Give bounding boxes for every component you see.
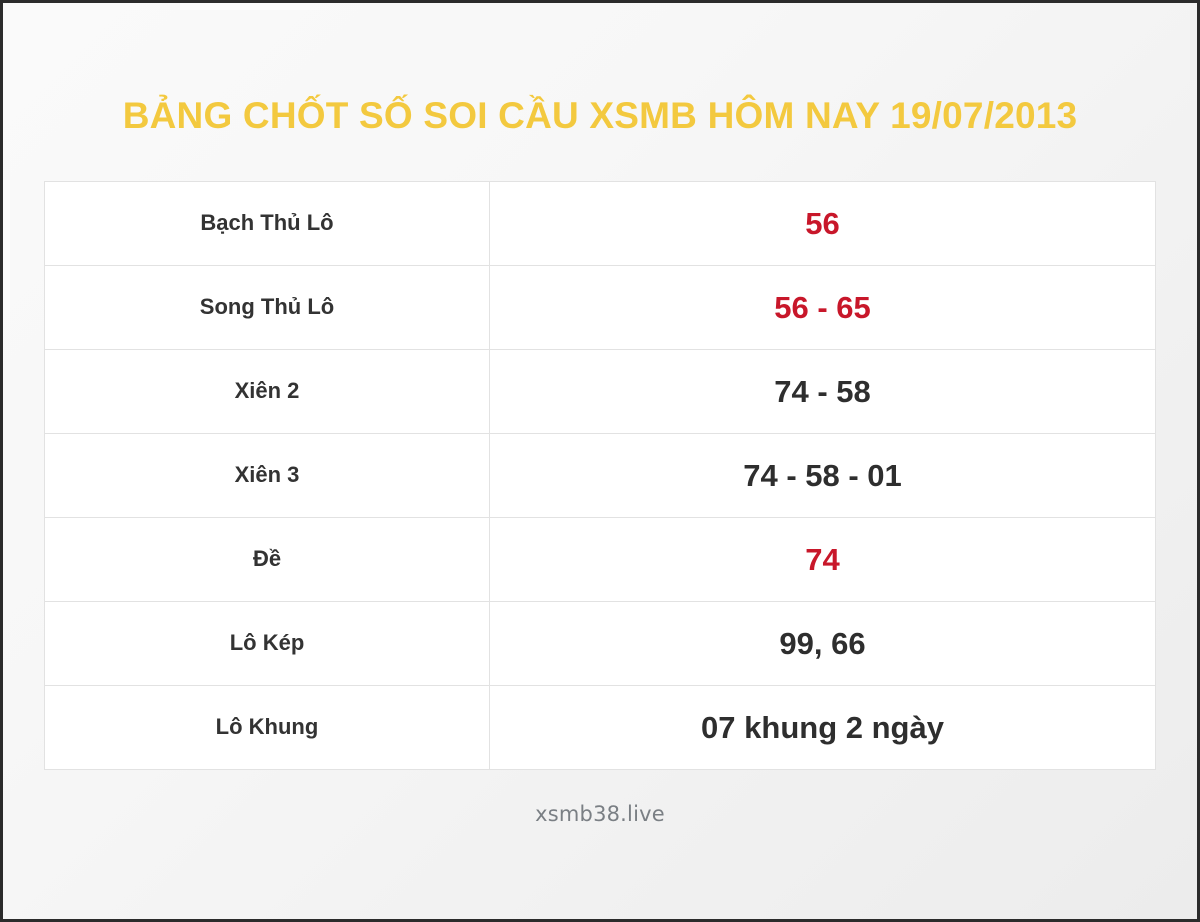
row-value-cell: 07 khung 2 ngày [490,686,1156,770]
row-value-cell: 74 - 58 [490,350,1156,434]
row-label: Lô Kép [230,630,305,655]
row-label: Song Thủ Lô [200,294,334,319]
row-value: 56 - 65 [774,290,871,325]
site-watermark: xsmb38.live [535,802,665,826]
row-value-cell: 99, 66 [490,602,1156,686]
prediction-table: Bạch Thủ Lô 56 Song Thủ Lô 56 - 65 Xiên … [44,181,1156,770]
row-label: Bạch Thủ Lô [200,210,333,235]
table-row: Đề 74 [45,518,1156,602]
row-label-cell: Bạch Thủ Lô [45,182,490,266]
row-value-cell: 56 [490,182,1156,266]
row-label-cell: Đề [45,518,490,602]
row-label: Xiên 3 [235,462,300,487]
row-label: Xiên 2 [235,378,300,403]
row-label-cell: Xiên 2 [45,350,490,434]
row-label: Đề [253,546,281,571]
row-label-cell: Xiên 3 [45,434,490,518]
row-value: 56 [805,206,839,241]
row-label: Lô Khung [216,714,319,739]
row-value-cell: 56 - 65 [490,266,1156,350]
row-value: 74 - 58 [774,374,871,409]
row-value: 74 - 58 - 01 [743,458,902,493]
table-row: Song Thủ Lô 56 - 65 [45,266,1156,350]
row-value: 74 [805,542,839,577]
row-value: 99, 66 [779,626,865,661]
row-label-cell: Lô Khung [45,686,490,770]
row-value-cell: 74 - 58 - 01 [490,434,1156,518]
row-value: 07 khung 2 ngày [701,710,944,745]
page-container: BẢNG CHỐT SỐ SOI CẦU XSMB HÔM NAY 19/07/… [3,3,1197,919]
table-row: Lô Khung 07 khung 2 ngày [45,686,1156,770]
row-value-cell: 74 [490,518,1156,602]
table-row: Bạch Thủ Lô 56 [45,182,1156,266]
table-row: Lô Kép 99, 66 [45,602,1156,686]
page-title: BẢNG CHỐT SỐ SOI CẦU XSMB HÔM NAY 19/07/… [123,97,1078,134]
row-label-cell: Song Thủ Lô [45,266,490,350]
table-row: Xiên 3 74 - 58 - 01 [45,434,1156,518]
table-body: Bạch Thủ Lô 56 Song Thủ Lô 56 - 65 Xiên … [45,182,1156,770]
table-row: Xiên 2 74 - 58 [45,350,1156,434]
row-label-cell: Lô Kép [45,602,490,686]
